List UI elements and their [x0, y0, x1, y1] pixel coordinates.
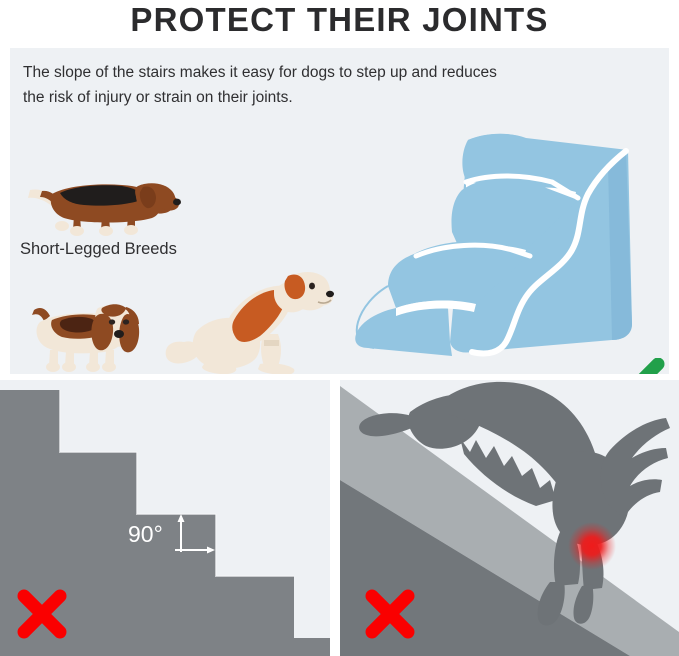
pet-stairs-illustration	[340, 128, 669, 374]
dog-label-short-legged-breeds: Short-Legged Breeds	[20, 240, 177, 259]
angle-label: 90°	[128, 521, 163, 548]
check-icon	[598, 358, 666, 374]
page-title: PROTECT THEIR JOINTS	[0, 0, 679, 46]
dog-illustration-short-legged	[22, 160, 182, 238]
dog-illustration-injury	[160, 260, 335, 374]
bottom-left-panel	[0, 380, 330, 656]
pain-indicator-dot	[568, 522, 616, 570]
infographic-page: PROTECT THEIR JOINTS The slope of the st…	[0, 0, 679, 656]
dog-illustration-senior	[22, 288, 152, 374]
x-icon	[364, 588, 416, 640]
top-panel: The slope of the stairs makes it easy fo…	[10, 48, 669, 374]
bottom-right-panel	[340, 380, 679, 656]
body-text: The slope of the stairs makes it easy fo…	[23, 60, 513, 110]
x-icon	[16, 588, 68, 640]
